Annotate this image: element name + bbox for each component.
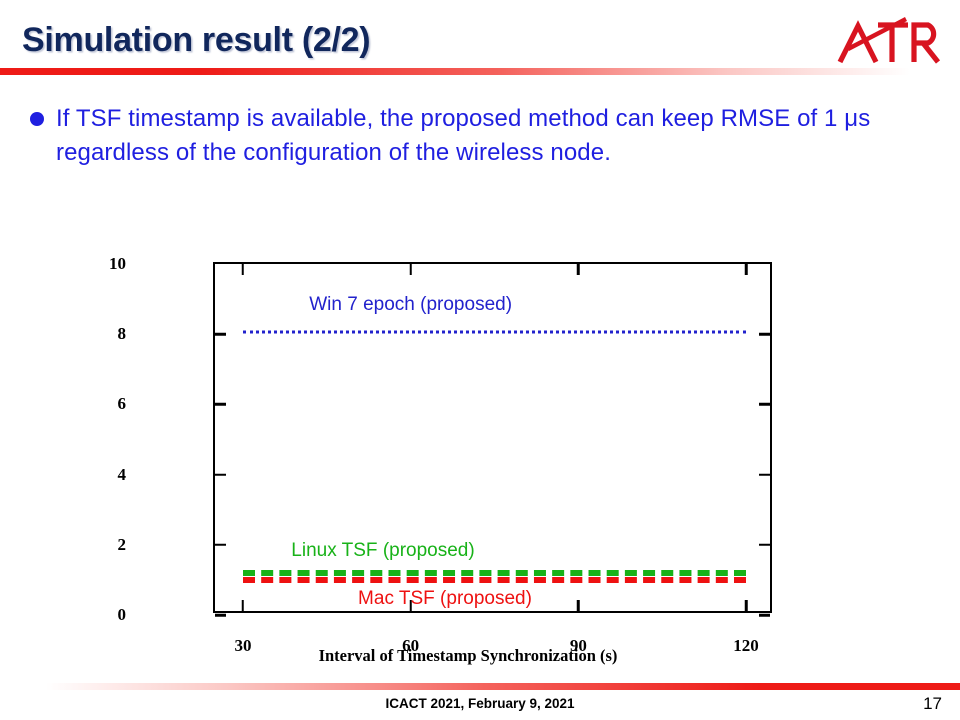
y-tick-mark [215,473,226,476]
bullet-text: If TSF timestamp is available, the propo… [56,102,930,170]
chart-figure: Root Mean Square Error of Timestamp (μs)… [148,248,788,672]
y-tick-mark [215,333,226,336]
y-tick-label: 0 [86,605,126,625]
x-tick-mark [409,264,412,275]
x-tick-mark [745,600,748,611]
footer-conference-text: ICACT 2021, February 9, 2021 [0,696,960,711]
y-tick-mark [215,614,226,617]
x-tick-mark [577,600,580,611]
y-tick-label: 6 [86,394,126,414]
x-tick-label: 120 [716,636,776,656]
series-label-mac-tsf: Mac TSF (proposed) [358,588,532,610]
series-label-linux-tsf: Linux TSF (proposed) [291,540,474,562]
y-tick-mark [759,614,770,617]
y-tick-label: 8 [86,324,126,344]
x-tick-mark [242,264,245,275]
series-line-linux-tsf [243,570,746,576]
y-tick-label: 2 [86,535,126,555]
series-label-win7-epoch: Win 7 epoch (proposed) [309,294,512,316]
x-tick-mark [577,264,580,275]
list-item: If TSF timestamp is available, the propo… [30,102,930,170]
y-tick-mark [215,403,226,406]
series-line-mac-tsf [243,577,746,583]
series-line-win7-epoch [243,331,746,334]
page-title: Simulation result (2/2) [22,21,370,60]
x-tick-label: 60 [381,636,441,656]
x-tick-label: 90 [548,636,608,656]
y-tick-label: 4 [86,465,126,485]
page-number: 17 [923,694,942,714]
atr-logo-icon [836,16,942,68]
y-tick-mark [759,333,770,336]
slide-canvas: Simulation result (2/2) If TSF timestamp… [0,0,960,720]
x-tick-mark [745,264,748,275]
y-tick-mark [215,544,226,547]
x-tick-label: 30 [213,636,273,656]
footer-divider [46,683,960,690]
x-tick-mark [242,600,245,611]
bullet-dot-icon [30,112,44,126]
chart-plot-area: 0 2 4 6 8 10 30 60 90 [213,262,772,613]
y-tick-mark [759,544,770,547]
slide-header: Simulation result (2/2) [0,0,960,80]
y-tick-mark [759,403,770,406]
bullet-list: If TSF timestamp is available, the propo… [30,102,930,170]
y-tick-label: 10 [86,254,126,274]
header-divider [0,68,910,75]
y-tick-mark [759,473,770,476]
